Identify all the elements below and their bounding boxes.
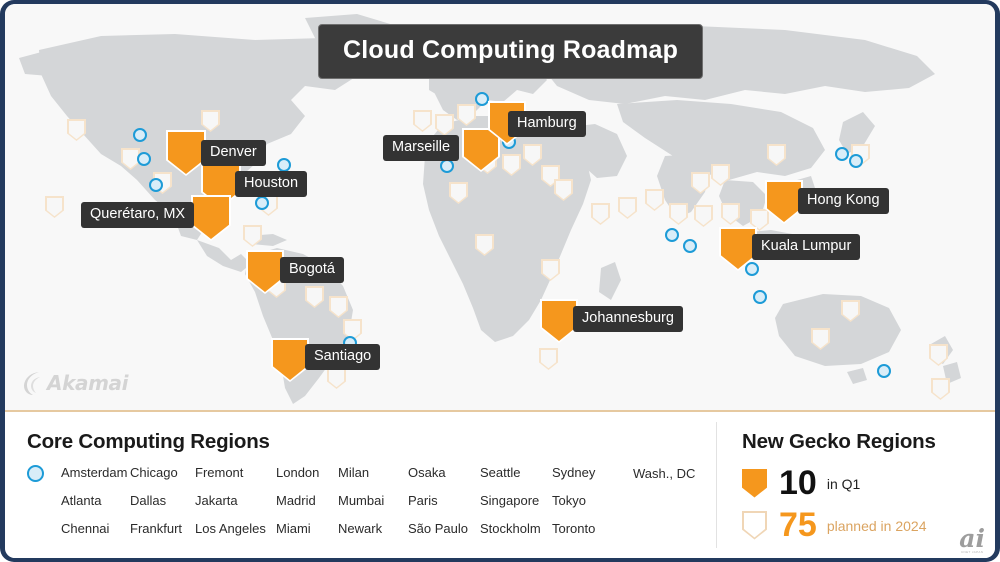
akamai-wordmark: Akamai [47, 371, 128, 395]
gecko-stat-2024-value: 75 [779, 508, 817, 542]
slide-canvas: Denver Houston Querétaro, MX Bogotá Sant… [5, 4, 995, 558]
outer-frame: Denver Houston Querétaro, MX Bogotá Sant… [0, 0, 1000, 562]
city-item: Singapore [480, 494, 552, 507]
city-item: Amsterdam [61, 466, 130, 479]
gecko-stat-2024-caption: planned in 2024 [827, 518, 927, 534]
cnet-watermark: ai CNET JAPAN [959, 528, 985, 555]
map-label-queretaro: Querétaro, MX [81, 202, 194, 228]
city-item: Paris [408, 494, 480, 507]
city-item: Los Angeles [195, 522, 276, 535]
city-item: São Paulo [408, 522, 480, 535]
map-label-kualalumpur: Kuala Lumpur [752, 234, 860, 260]
city-item: Wash., DC [633, 466, 695, 481]
map-label-bogota: Bogotá [280, 257, 344, 283]
core-regions-panel: Core Computing Regions Amsterdam Chicago… [5, 412, 717, 558]
shield-outline-icon [742, 511, 767, 540]
new-region-marker-queretaro [193, 197, 229, 239]
cnet-watermark-glyph: ai [959, 528, 985, 551]
city-item: Seattle [480, 466, 552, 479]
city-item: Tokyo [552, 494, 613, 507]
city-item: Atlanta [61, 494, 130, 507]
city-item: Chicago [130, 466, 195, 479]
city-item: Jakarta [195, 494, 276, 507]
map-label-denver: Denver [201, 140, 266, 166]
shield-filled-icon [742, 469, 767, 498]
city-item: Madrid [276, 494, 338, 507]
gecko-stat-q1: 10 in Q1 [742, 466, 860, 500]
page-title: Cloud Computing Roadmap [318, 24, 703, 79]
legend-panel: Core Computing Regions Amsterdam Chicago… [5, 412, 995, 558]
city-item: Miami [276, 522, 338, 535]
core-regions-city-grid: Amsterdam Chicago Fremont London Milan O… [61, 466, 711, 535]
city-item: Toronto [552, 522, 613, 535]
world-map: Denver Houston Querétaro, MX Bogotá Sant… [5, 4, 995, 410]
map-label-santiago: Santiago [305, 344, 380, 370]
city-item: Milan [338, 466, 408, 479]
city-item: Stockholm [480, 522, 552, 535]
map-label-houston: Houston [235, 171, 307, 197]
map-label-hamburg: Hamburg [508, 111, 586, 137]
city-item: Chennai [61, 522, 130, 535]
gecko-regions-title: New Gecko Regions [742, 430, 936, 454]
gecko-stat-q1-value: 10 [779, 466, 817, 500]
gecko-regions-panel: New Gecko Regions 10 in Q1 75 planned in… [717, 412, 995, 558]
city-item: Osaka [408, 466, 480, 479]
new-region-marker-hongkong [767, 182, 801, 222]
city-item: Newark [338, 522, 408, 535]
city-item: Frankfurt [130, 522, 195, 535]
map-label-johannesburg: Johannesburg [573, 306, 683, 332]
city-item: Fremont [195, 466, 276, 479]
city-item: Mumbai [338, 494, 408, 507]
new-region-marker-denver [168, 132, 204, 174]
gecko-stat-q1-caption: in Q1 [827, 476, 860, 492]
akamai-wave-icon [23, 370, 45, 396]
city-item: Sydney [552, 466, 613, 479]
city-item: Dallas [130, 494, 195, 507]
new-region-marker-marseille [464, 130, 498, 170]
new-region-marker-johannesburg [542, 301, 576, 341]
map-label-hongkong: Hong Kong [798, 188, 889, 214]
new-region-marker-kualalumpur [721, 229, 755, 269]
new-region-marker-santiago [273, 340, 307, 380]
akamai-logo: Akamai [23, 370, 128, 396]
gecko-stat-2024: 75 planned in 2024 [742, 508, 926, 542]
city-item: London [276, 466, 338, 479]
map-label-marseille: Marseille [383, 135, 459, 161]
blue-circle-icon [27, 465, 44, 482]
new-region-marker-bogota [248, 252, 282, 292]
core-regions-title: Core Computing Regions [27, 430, 270, 454]
cnet-watermark-sub: CNET JAPAN [959, 550, 985, 554]
